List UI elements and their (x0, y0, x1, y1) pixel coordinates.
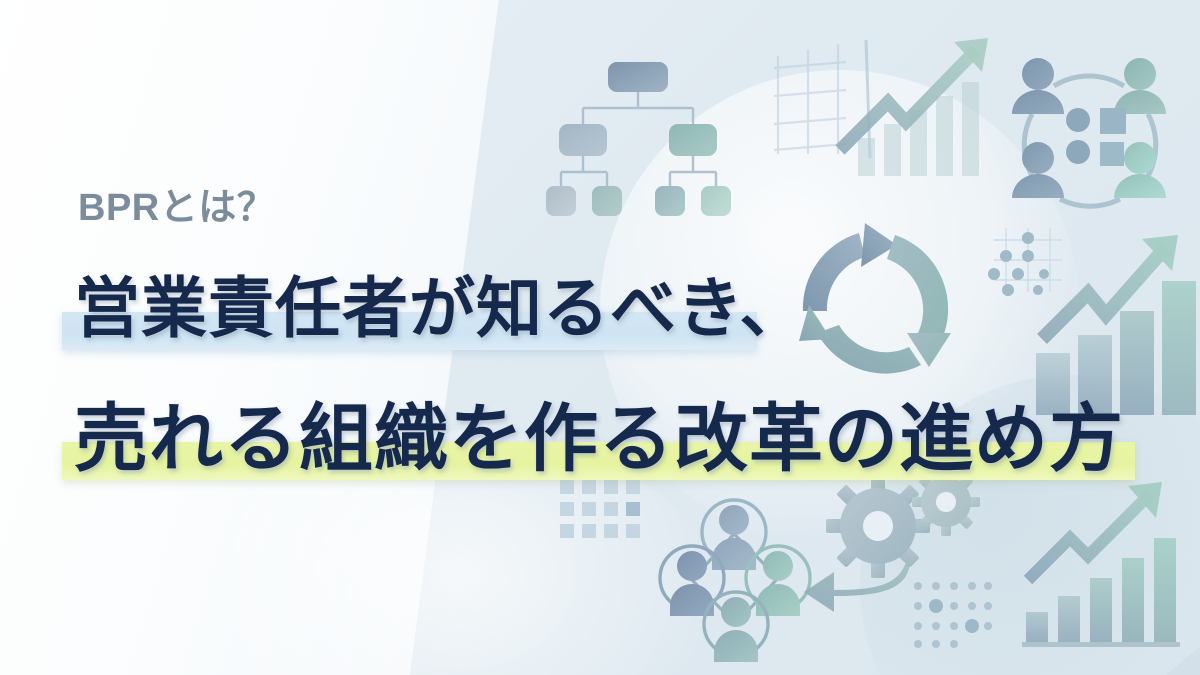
slide-canvas: BPRとは？ 営業責任者が知るべき、 売れる組織を作る改革の進め方 (0, 0, 1200, 675)
circular-process-arrows-icon (778, 215, 988, 395)
organization-chart-icon (550, 56, 760, 226)
growth-trend-chart-icon (836, 26, 1016, 176)
team-collaboration-network-icon (1008, 54, 1188, 224)
growth-bar-chart-icon (1020, 225, 1200, 415)
reverse-arrow-icon (802, 560, 912, 616)
dot-grid-icon (912, 580, 992, 650)
people-network-diamond-icon (630, 482, 830, 672)
corner-facet-shape (1148, 640, 1200, 675)
growth-bar-chart-icon (1022, 480, 1200, 665)
